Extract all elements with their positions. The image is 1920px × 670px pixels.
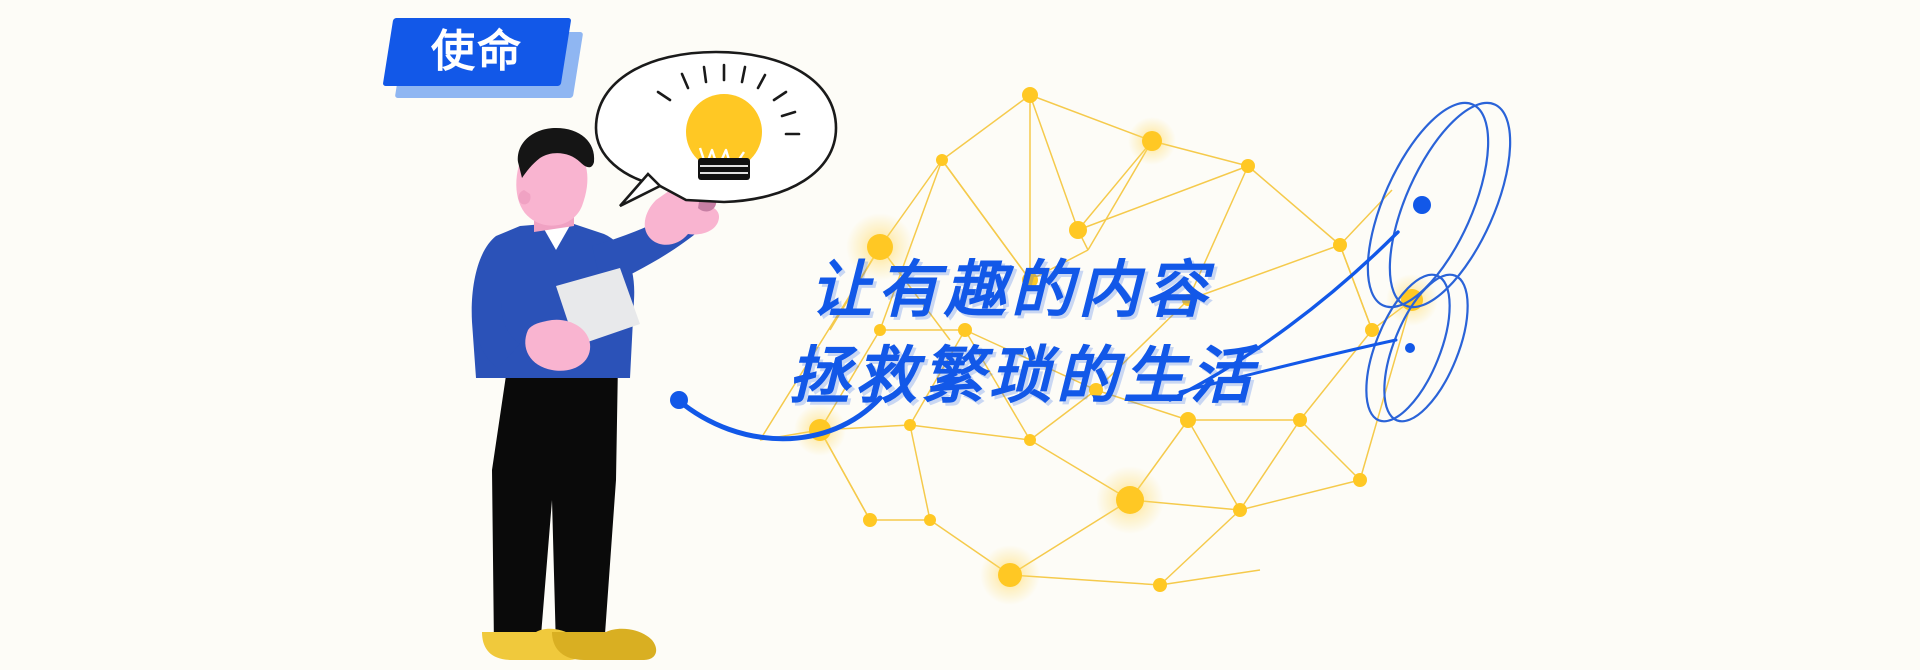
person-tablet <box>556 268 640 346</box>
bulb-base <box>698 158 750 180</box>
blue-swoosh-dot <box>670 391 688 409</box>
mission-badge: 使命 <box>388 10 578 102</box>
person-trousers <box>492 362 618 648</box>
bulb-filament <box>700 148 744 170</box>
headline-line-2: 拯救繁琐的生活 <box>788 334 1450 420</box>
bulb-glass <box>686 94 762 170</box>
person-shoe-left <box>482 629 582 660</box>
headline: 让有趣的内容 拯救繁琐的生活 <box>810 248 1450 420</box>
person-hair <box>518 128 594 178</box>
person-collar <box>540 216 572 250</box>
bulb-rays <box>658 65 799 134</box>
person-hand-pointing <box>645 176 720 245</box>
person-shoe-right <box>552 629 656 660</box>
person-finger-detail <box>698 194 716 211</box>
badge-plate: 使命 <box>383 18 572 86</box>
person-arm-lower <box>475 300 520 368</box>
bubble-shape <box>596 52 836 202</box>
headline-line-1: 让有趣的内容 <box>810 248 1450 334</box>
bubble-tail <box>620 174 660 206</box>
badge-label: 使命 <box>431 30 523 74</box>
person-ear <box>518 190 530 204</box>
person-hand-holding <box>525 320 590 371</box>
person-shirt <box>472 222 635 378</box>
loop-upper-dot <box>1413 196 1431 214</box>
person-neck <box>534 196 574 232</box>
person-head <box>516 142 587 226</box>
person-arm-raised <box>592 208 700 288</box>
mission-banner: 让有趣的内容 拯救繁琐的生活 使命 <box>0 0 1920 670</box>
